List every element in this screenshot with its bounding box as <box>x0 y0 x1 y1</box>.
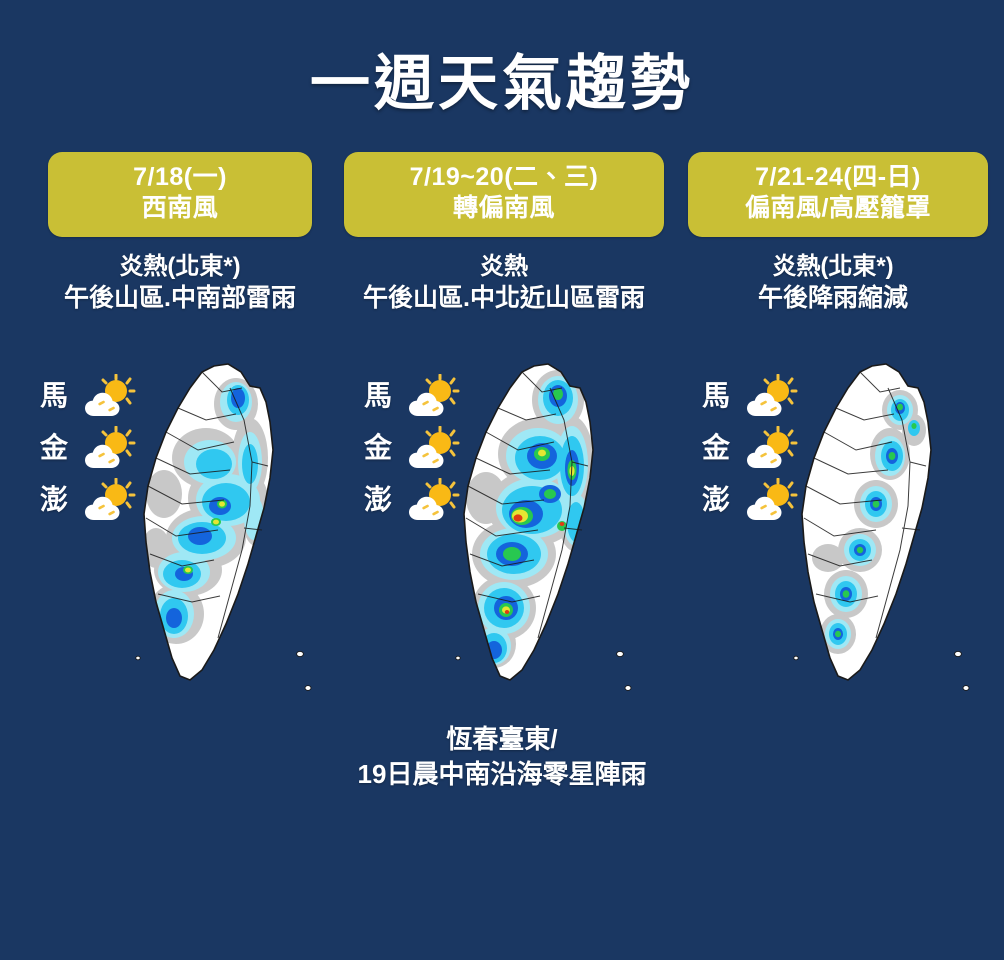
taiwan-rainfall-map-day1 <box>110 358 340 703</box>
footnote-line2: 19日晨中南沿海零星陣雨 <box>0 757 1004 792</box>
footnote-line1: 恆春臺東/ <box>0 722 1004 757</box>
island-label: 澎 <box>702 486 740 514</box>
banner-date: 7/18(一) <box>54 162 306 193</box>
taiwan-rainfall-map-day3 <box>768 358 998 703</box>
forecast-description-3: 炎熱(北東*) 午後降雨縮減 <box>678 251 988 315</box>
description-line1: 炎熱 <box>344 251 664 282</box>
date-banner-3: 7/21-24(四-日) 偏南風/高壓籠罩 <box>688 152 988 237</box>
page-title: 一週天氣趨勢 <box>0 52 1004 115</box>
forecast-column-3: 7/21-24(四-日) 偏南風/高壓籠罩 炎熱(北東*) 午後降雨縮減 <box>678 152 988 314</box>
weather-trend-infographic: 一週天氣趨勢 7/18(一) 西南風 炎熱(北東*) 午後山區.中南部雷雨 馬 … <box>0 0 1004 960</box>
description-line2: 午後降雨縮減 <box>678 282 988 315</box>
island-label: 金 <box>702 434 740 462</box>
island-label: 金 <box>364 434 402 462</box>
forecast-column-2: 7/19~20(二、三) 轉偏南風 炎熱 午後山區.中北近山區雷雨 <box>344 152 664 314</box>
island-label: 金 <box>40 434 78 462</box>
island-label: 馬 <box>702 382 740 410</box>
island-label: 馬 <box>364 382 402 410</box>
forecast-description-1: 炎熱(北東*) 午後山區.中南部雷雨 <box>30 251 330 315</box>
island-label: 馬 <box>40 382 78 410</box>
taiwan-rainfall-map-day2 <box>430 358 660 703</box>
description-line2: 午後山區.中北近山區雷雨 <box>344 282 664 315</box>
date-banner-2: 7/19~20(二、三) 轉偏南風 <box>344 152 664 237</box>
forecast-column-1: 7/18(一) 西南風 炎熱(北東*) 午後山區.中南部雷雨 <box>30 152 330 314</box>
island-label: 澎 <box>364 486 402 514</box>
description-line2: 午後山區.中南部雷雨 <box>30 282 330 315</box>
footnote: 恆春臺東/ 19日晨中南沿海零星陣雨 <box>0 722 1004 792</box>
description-line1: 炎熱(北東*) <box>30 251 330 282</box>
banner-date: 7/19~20(二、三) <box>350 162 658 193</box>
banner-wind: 轉偏南風 <box>350 193 658 224</box>
date-banner-1: 7/18(一) 西南風 <box>48 152 312 237</box>
description-line1: 炎熱(北東*) <box>678 251 988 282</box>
island-label: 澎 <box>40 486 78 514</box>
banner-date: 7/21-24(四-日) <box>694 162 982 193</box>
banner-wind: 偏南風/高壓籠罩 <box>694 193 982 224</box>
banner-wind: 西南風 <box>54 193 306 224</box>
forecast-description-2: 炎熱 午後山區.中北近山區雷雨 <box>344 251 664 315</box>
